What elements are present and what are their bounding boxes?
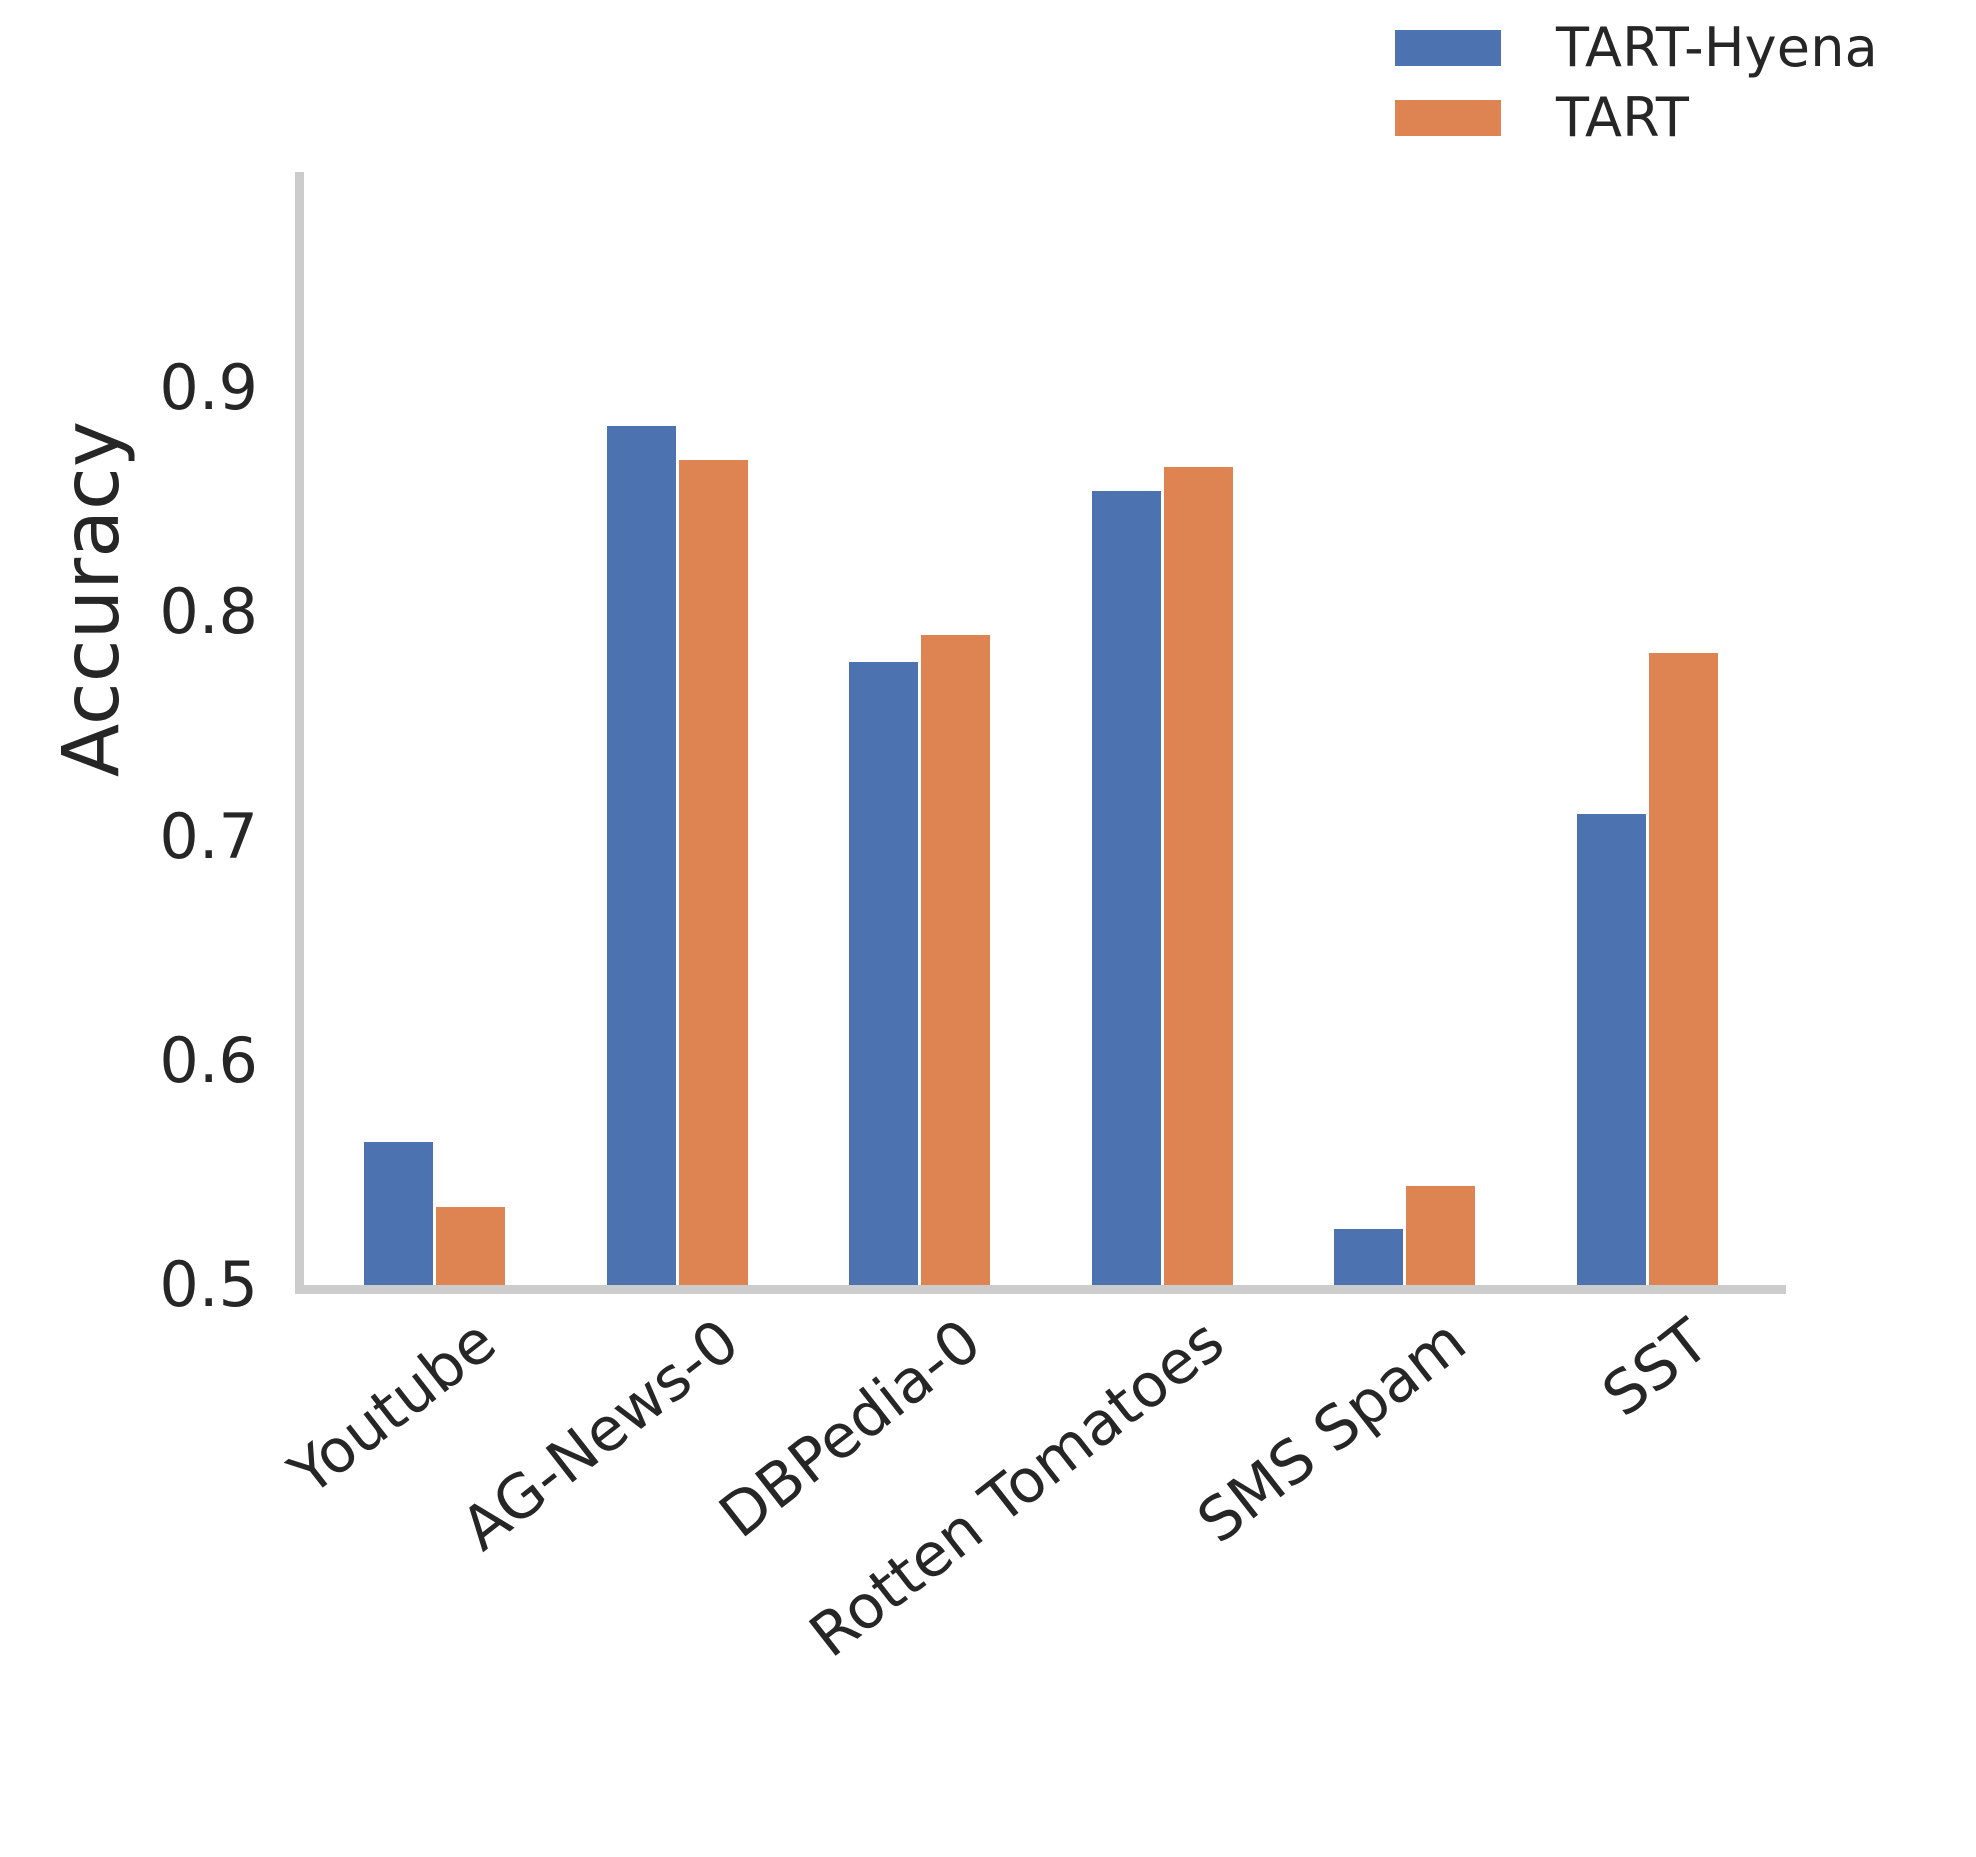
bar-rotten-tomatoes-tart-hyena: [1092, 491, 1161, 1285]
bar-dbpedia-0-tart-hyena: [849, 662, 918, 1285]
legend-entry-tart-hyena: TART-Hyena: [1395, 22, 1878, 74]
y-tick-label: 0.6: [38, 1030, 258, 1092]
bar-ag-news-0-tart: [679, 460, 748, 1285]
plot-area: [295, 172, 1786, 1285]
bar-ag-news-0-tart-hyena: [607, 426, 676, 1285]
bar-sms-spam-tart-hyena: [1334, 1229, 1403, 1285]
legend-entry-tart: TART: [1395, 92, 1878, 144]
legend-label-tart-hyena: TART-Hyena: [1556, 21, 1878, 75]
y-tick-label: 0.9: [38, 357, 258, 419]
bar-rotten-tomatoes-tart: [1164, 467, 1233, 1285]
x-tick-label-youtube: Youtube: [280, 1310, 506, 1505]
y-tick-label: 0.5: [38, 1254, 258, 1316]
legend-swatch-tart-hyena: [1395, 30, 1501, 66]
legend-swatch-tart: [1395, 100, 1501, 136]
chart-legend: TART-Hyena TART: [1395, 22, 1878, 144]
y-tick-label: 0.7: [38, 806, 258, 868]
x-axis-spine: [295, 1285, 1786, 1294]
legend-label-tart: TART: [1556, 91, 1689, 145]
bar-dbpedia-0-tart: [921, 635, 990, 1285]
bar-chart-figure: TART-Hyena TART Accuracy 0.50.60.70.80.9…: [0, 0, 1976, 1857]
bar-youtube-tart: [436, 1207, 505, 1285]
bar-sst-tart-hyena: [1577, 814, 1646, 1285]
y-axis-spine: [295, 172, 304, 1285]
bar-sms-spam-tart: [1406, 1186, 1475, 1285]
y-tick-label: 0.8: [38, 581, 258, 643]
x-tick-label-sms-spam: SMS Spam: [1188, 1310, 1476, 1553]
x-tick-label-rotten-tomatoes: Rotten Tomatoes: [800, 1310, 1234, 1667]
bar-youtube-tart-hyena: [364, 1142, 433, 1285]
bar-sst-tart: [1649, 653, 1718, 1285]
x-tick-label-sst: SST: [1593, 1310, 1719, 1427]
